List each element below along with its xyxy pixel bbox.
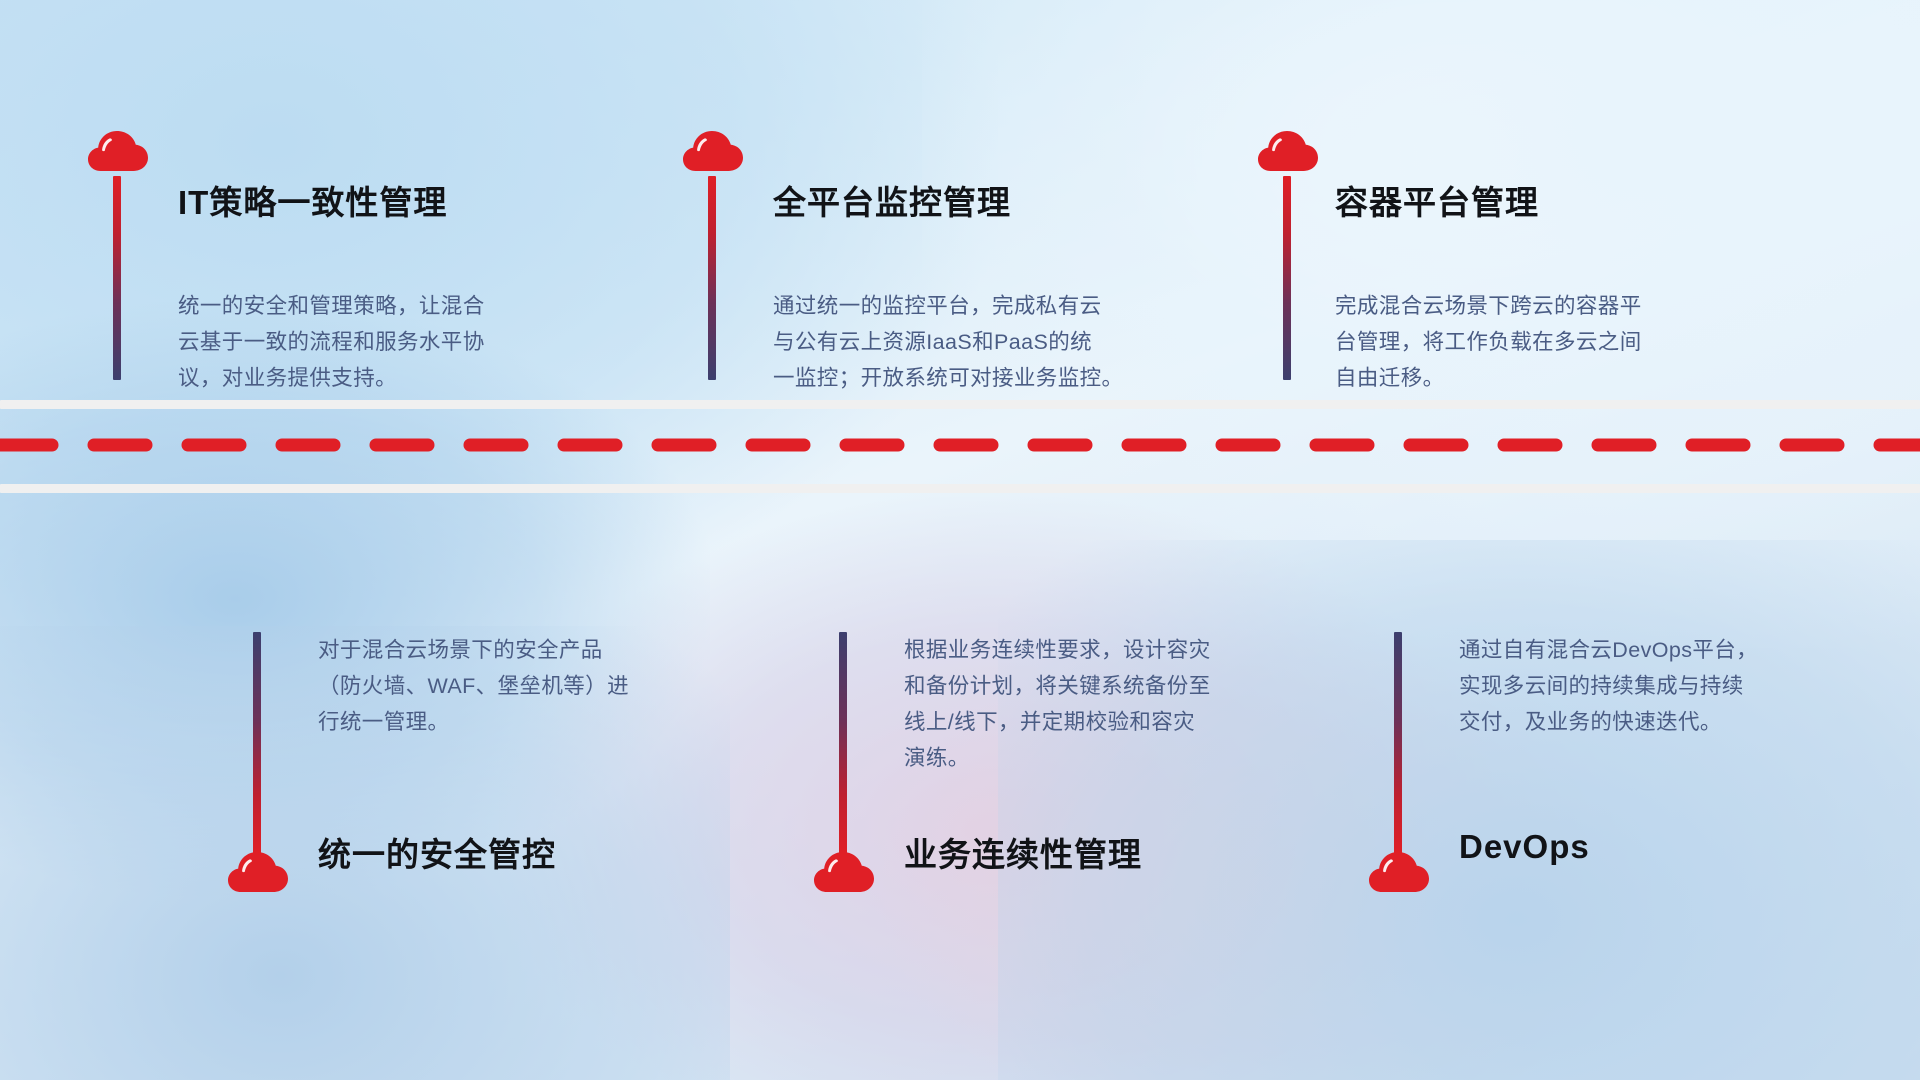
description-line: 根据业务连续性要求，设计容灾 bbox=[904, 632, 1211, 668]
cloud-pin-icon bbox=[679, 129, 745, 177]
description-line: 一监控；开放系统可对接业务监控。 bbox=[773, 360, 1123, 396]
description-line: 统一的安全和管理策略，让混合 bbox=[178, 288, 485, 324]
description-line: 云基于一致的流程和服务水平协 bbox=[178, 324, 485, 360]
cloud-pin-icon bbox=[810, 850, 876, 898]
description-line: 对于混合云场景下的安全产品 bbox=[318, 632, 629, 668]
item-title: 全平台监控管理 bbox=[773, 176, 1011, 224]
item-description: 根据业务连续性要求，设计容灾 和备份计划，将关键系统备份至 线上/线下，并定期校… bbox=[904, 632, 1211, 776]
description-line: 行统一管理。 bbox=[318, 704, 629, 740]
item-title: 容器平台管理 bbox=[1335, 176, 1539, 224]
description-line: 演练。 bbox=[904, 740, 1211, 776]
road-edge-line-bottom bbox=[0, 484, 1920, 493]
cloud-pin-icon bbox=[1365, 850, 1431, 898]
description-line: 完成混合云场景下跨云的容器平 bbox=[1335, 288, 1642, 324]
item-description: 完成混合云场景下跨云的容器平 台管理，将工作负载在多云之间 自由迁移。 bbox=[1335, 288, 1642, 396]
timeline-stem bbox=[253, 632, 261, 854]
description-line: 实现多云间的持续集成与持续 bbox=[1459, 668, 1758, 704]
item-description: 统一的安全和管理策略，让混合 云基于一致的流程和服务水平协 议，对业务提供支持。 bbox=[178, 288, 485, 396]
item-title: IT策略一致性管理 bbox=[178, 176, 447, 224]
item-title: 统一的安全管控 bbox=[318, 828, 556, 876]
description-line: 议，对业务提供支持。 bbox=[178, 360, 485, 396]
description-line: 交付，及业务的快速迭代。 bbox=[1459, 704, 1758, 740]
timeline-stem bbox=[839, 632, 847, 854]
cloud-pin-icon bbox=[1254, 129, 1320, 177]
top-row: IT策略一致性管理 统一的安全和管理策略，让混合 云基于一致的流程和服务水平协 … bbox=[0, 150, 1920, 480]
timeline-stem bbox=[113, 176, 121, 380]
timeline-stem bbox=[708, 176, 716, 380]
item-title: DevOps bbox=[1459, 828, 1590, 866]
item-title: 业务连续性管理 bbox=[904, 828, 1142, 876]
bottom-row: 对于混合云场景下的安全产品 （防火墙、WAF、堡垒机等）进 行统一管理。 统一的… bbox=[0, 610, 1920, 970]
timeline-stem bbox=[1394, 632, 1402, 854]
timeline-stem bbox=[1283, 176, 1291, 380]
description-line: （防火墙、WAF、堡垒机等）进 bbox=[318, 668, 629, 704]
cloud-pin-icon bbox=[224, 850, 290, 898]
item-description: 通过自有混合云DevOps平台， 实现多云间的持续集成与持续 交付，及业务的快速… bbox=[1459, 632, 1758, 740]
item-description: 对于混合云场景下的安全产品 （防火墙、WAF、堡垒机等）进 行统一管理。 bbox=[318, 632, 629, 740]
description-line: 台管理，将工作负载在多云之间 bbox=[1335, 324, 1642, 360]
description-line: 与公有云上资源IaaS和PaaS的统 bbox=[773, 324, 1123, 360]
description-line: 线上/线下，并定期校验和容灾 bbox=[904, 704, 1211, 740]
item-description: 通过统一的监控平台，完成私有云 与公有云上资源IaaS和PaaS的统 一监控；开… bbox=[773, 288, 1123, 396]
description-line: 自由迁移。 bbox=[1335, 360, 1642, 396]
cloud-pin-icon bbox=[84, 129, 150, 177]
description-line: 和备份计划，将关键系统备份至 bbox=[904, 668, 1211, 704]
description-line: 通过统一的监控平台，完成私有云 bbox=[773, 288, 1123, 324]
description-line: 通过自有混合云DevOps平台， bbox=[1459, 632, 1758, 668]
